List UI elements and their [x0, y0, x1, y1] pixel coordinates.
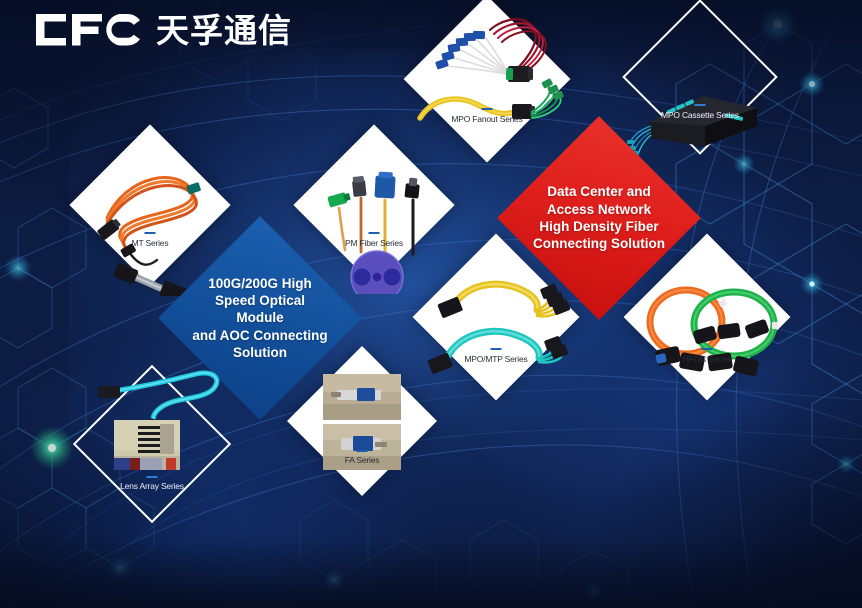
tile-divider-dash [482, 108, 493, 111]
solution-line-1: Data Center and [533, 183, 665, 200]
tile-label-mpo-fanout-series: MPO Fanout Series [428, 114, 546, 124]
product-image-mpo-mtp-series [425, 258, 575, 398]
tile-label-fa-series: FA Series [309, 455, 415, 465]
product-image-mpo-fanout-series [402, 0, 574, 160]
tile-label-mpo-mtp-series: MPO/MTP Series [437, 354, 555, 364]
solution-line-3: High Density Fiber [533, 218, 665, 235]
tile-divider-dash [702, 348, 713, 351]
tile-pm-fiber-series[interactable]: PM Fiber Series [317, 148, 431, 262]
tile-mpo-cassette-series[interactable]: MPO Cassette Series [645, 22, 755, 132]
tile-label-lens-array-series: Lens Array Series [96, 481, 208, 491]
solution-line-3: and AOC Connecting [190, 327, 330, 344]
fa-photo-1 [323, 374, 401, 420]
tile-divider-dash [369, 232, 380, 235]
solution-line-1: 100G/200G High [190, 275, 330, 292]
tile-mt-series[interactable]: MT Series [93, 148, 207, 262]
product-photo-lens-array [114, 420, 180, 470]
product-image-hfoc-series [622, 266, 792, 396]
tile-label-hfoc-series: HFOC Series [648, 354, 766, 364]
brand-logo: 天孚通信 [34, 8, 292, 52]
product-photo-fa-top [323, 374, 401, 420]
brand-logo-text-cn: 天孚通信 [156, 14, 292, 47]
tile-lens-array-series[interactable]: Lens Array Series [96, 388, 208, 500]
solution-line-4: Connecting Solution [533, 235, 665, 252]
tile-divider-dash [491, 348, 502, 351]
product-image-pm-fiber-series [317, 154, 437, 294]
poster-canvas: 天孚通信 [0, 0, 862, 608]
tile-mpo-fanout-series[interactable]: MPO Fanout Series [428, 20, 546, 138]
background-bottom-shade [0, 538, 862, 608]
lens-array-photo [114, 420, 180, 470]
tile-shape [287, 346, 437, 496]
tile-divider-dash [145, 232, 156, 235]
tile-divider-dash [147, 476, 158, 479]
tile-divider-dash [695, 104, 706, 107]
tile-mpo-mtp-series[interactable]: MPO/MTP Series [437, 258, 555, 376]
tile-fa-series[interactable]: FA Series [309, 368, 415, 474]
cfc-logo-mark [34, 8, 146, 52]
tile-label-pm-fiber-series: PM Fiber Series [317, 238, 431, 248]
solution-line-4: Solution [190, 344, 330, 361]
solution-line-2: Speed Optical Module [190, 292, 330, 327]
tile-label-mpo-cassette-series: MPO Cassette Series [645, 110, 755, 120]
tile-hfoc-series[interactable]: HFOC Series [648, 258, 766, 376]
tile-divider-dash [357, 450, 368, 453]
solution-line-2: Access Network [533, 201, 665, 218]
